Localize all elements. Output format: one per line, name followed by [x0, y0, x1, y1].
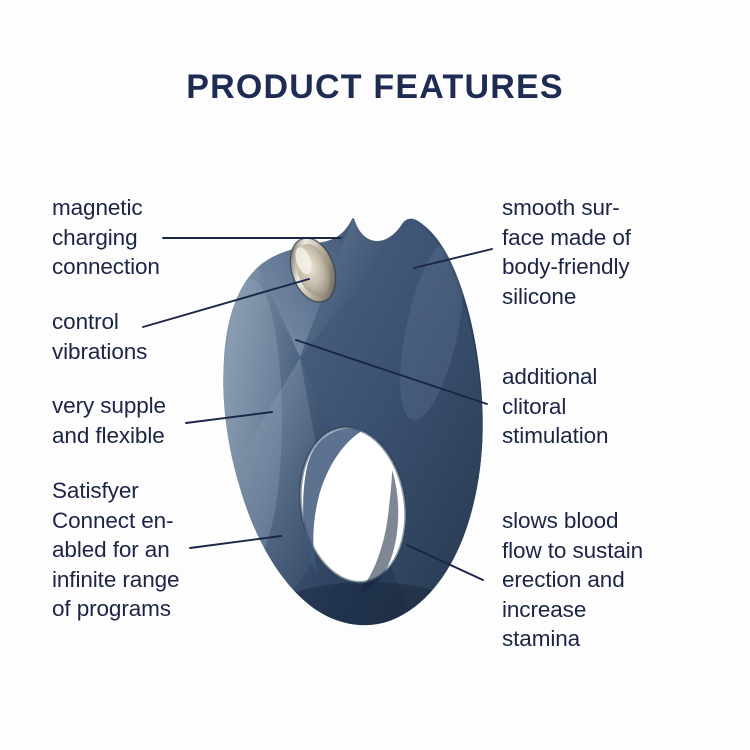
page-title: PRODUCT FEATURES [0, 68, 750, 107]
ring-aperture [289, 420, 416, 590]
feature-label-control-vibrations: control vibrations [52, 307, 232, 366]
feature-label-smooth-surface-silicone: smooth sur- face made of body-friendly s… [502, 193, 707, 311]
control-button[interactable] [282, 232, 343, 308]
feature-label-slows-blood-flow: slows blood flow to sustain erection and… [502, 506, 712, 654]
product-features-infographic: PRODUCT FEATURES [0, 0, 750, 750]
feature-label-magnetic-charging-connection: magnetic charging connection [52, 193, 232, 282]
leader-line-slows-blood-flow [407, 545, 483, 580]
leader-line-clitoral [296, 340, 487, 404]
product-body [222, 218, 483, 670]
feature-label-satisfyer-connect-enabled: Satisfyer Connect en- abled for an infin… [52, 476, 252, 624]
leader-line-smooth-surface [414, 249, 492, 268]
feature-label-very-supple-and-flexible: very supple and flexible [52, 391, 242, 450]
feature-label-additional-clitoral-stimulation: additional clitoral stimulation [502, 362, 702, 451]
